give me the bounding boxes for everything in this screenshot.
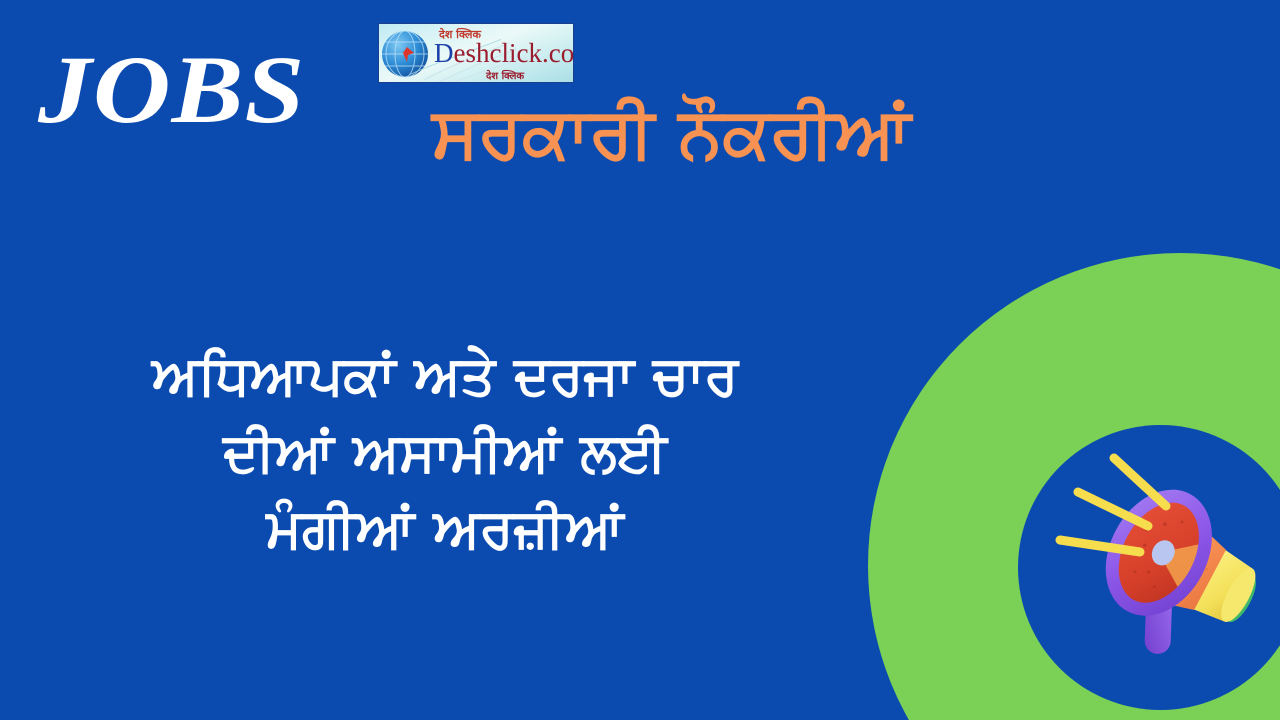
announcement-line-3: ਮੰਗੀਆਂ ਅਰਜ਼ੀਆਂ <box>20 491 870 568</box>
megaphone-icon <box>1048 440 1280 680</box>
jobs-wordmark: JOBS <box>38 42 305 138</box>
deshclick-logo[interactable]: देश क्लिक Deshclick.com देश क्लिक <box>378 23 574 83</box>
announcement-text: ਅਧਿਆਪਕਾਂ ਅਤੇ ਦਰਜਾ ਚਾਰ ਦੀਆਂ ਅਸਾਮੀਆਂ ਲਈ ਮੰ… <box>20 338 870 568</box>
page-title-orange: ਸਰਕਾਰੀ ਨੌਕਰੀਆਂ <box>432 96 1252 172</box>
logo-bottom-script: देश क्लिक <box>486 68 524 82</box>
globe-icon <box>381 27 433 81</box>
announcement-line-1: ਅਧਿਆਪਕਾਂ ਅਤੇ ਦਰਜਾ ਚਾਰ <box>20 338 870 415</box>
logo-brand-text: Deshclick.com <box>434 40 574 67</box>
jobs-announcement-banner: JOBS <box>0 0 1280 720</box>
logo-brand-initial: D <box>434 38 454 68</box>
announcement-line-2: ਦੀਆਂ ਅਸਾਮੀਆਂ ਲਈ <box>20 415 870 492</box>
logo-brand-rest: eshclick.com <box>454 38 575 68</box>
